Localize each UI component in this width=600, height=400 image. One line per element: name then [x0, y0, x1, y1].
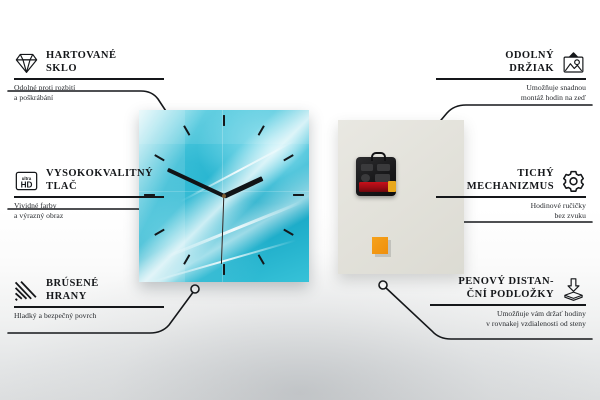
clock-movement — [356, 157, 396, 196]
title-line: HARTOVANÉ — [46, 50, 116, 63]
desc-line: Hladký a bezpečný povrch — [14, 311, 164, 321]
feature-description: Hladký a bezpečný povrch — [14, 311, 164, 321]
feature-hardened-glass: HARTOVANÉ SKLO Odolné proti rozbití a po… — [14, 50, 164, 102]
desc-line: Umožňuje vám držať hodiny — [430, 309, 586, 319]
feature-polished-edges: BRÚSENÉ HRANY Hladký a bezpečný povrch — [14, 278, 164, 321]
feature-description: Odolné proti rozbití a poškrábání — [14, 83, 164, 102]
battery — [359, 182, 395, 192]
divider — [14, 196, 164, 198]
feature-durable-holder: ODOLNÝ DRŽIAK Umožňuje snadnou montáž ho… — [436, 50, 586, 102]
glass-horizontal-reflection — [139, 191, 309, 192]
desc-line: Odolné proti rozbití — [14, 83, 164, 93]
battery-terminal — [388, 181, 396, 192]
title-line: MECHANIZMUS — [467, 181, 554, 194]
desc-line: bez zvuku — [436, 211, 586, 221]
title-line: DRŽIAK — [505, 63, 554, 76]
movement-detail — [377, 164, 390, 171]
desc-line: a výrazný obraz — [14, 211, 164, 221]
feature-head: TICHÝ MECHANIZMUS — [436, 168, 586, 193]
feature-head: ultra HD VYSOKOKVALITNÝ TLAČ — [14, 168, 164, 193]
diamond-icon — [14, 51, 39, 75]
divider — [14, 78, 164, 80]
movement-hanger — [371, 152, 386, 161]
feature-title: ODOLNÝ DRŽIAK — [505, 50, 554, 75]
product-clock-image — [139, 110, 309, 282]
feature-description: Vividné farby a výrazný obraz — [14, 201, 164, 220]
desc-line: a poškrábání — [14, 93, 164, 103]
title-line: HRANY — [46, 291, 99, 304]
desc-line: Vividné farby — [14, 201, 164, 211]
feature-title: HARTOVANÉ SKLO — [46, 50, 116, 75]
feature-head: ODOLNÝ DRŽIAK — [436, 50, 586, 75]
movement-detail — [361, 164, 373, 171]
feature-description: Umožňuje snadnou montáž hodin na zeď — [436, 83, 586, 102]
feature-title: VYSOKOKVALITNÝ TLAČ — [46, 168, 153, 193]
title-line: ODOLNÝ — [505, 50, 554, 63]
feature-head: HARTOVANÉ SKLO — [14, 50, 164, 75]
marker-polished-edges — [191, 285, 199, 293]
foam-distance-pad — [372, 237, 388, 254]
movement-detail — [361, 174, 370, 182]
feature-title: TICHÝ MECHANIZMUS — [467, 168, 554, 193]
feature-high-quality-print: ultra HD VYSOKOKVALITNÝ TLAČ Vividné far… — [14, 168, 164, 220]
title-line: TLAČ — [46, 181, 153, 194]
feature-head: PENOVÝ DISTAN- ČNÍ PODLOŽKY — [430, 276, 586, 301]
divider — [436, 196, 586, 198]
desc-line: montáž hodin na zeď — [436, 93, 586, 103]
feature-description: Umožňuje vám držať hodiny v rovnakej vzd… — [430, 309, 586, 328]
divider — [430, 304, 586, 306]
divider — [14, 306, 164, 308]
desc-line: v rovnakej vzdialenosti od steny — [430, 319, 586, 329]
title-line: BRÚSENÉ — [46, 278, 99, 291]
title-line: SKLO — [46, 63, 116, 76]
desc-line: Hodinové ručičky — [436, 201, 586, 211]
ultra-hd-icon: ultra HD — [14, 169, 39, 193]
diagonal-stripes-icon — [14, 279, 39, 303]
title-line: TICHÝ — [467, 168, 554, 181]
hd-label: HD — [21, 180, 33, 189]
feature-foam-distance-pads: PENOVÝ DISTAN- ČNÍ PODLOŽKY Umožňuje vám… — [430, 276, 586, 328]
desc-line: Umožňuje snadnou — [436, 83, 586, 93]
title-line: PENOVÝ DISTAN- — [458, 276, 554, 289]
title-line: VYSOKOKVALITNÝ — [46, 168, 153, 181]
clock-tick — [293, 194, 304, 196]
clock-tick — [223, 115, 225, 126]
picture-hanger-icon — [561, 51, 586, 75]
feature-head: BRÚSENÉ HRANY — [14, 278, 164, 303]
feature-description: Hodinové ručičky bez zvuku — [436, 201, 586, 220]
gear-icon — [561, 169, 586, 193]
feature-title: PENOVÝ DISTAN- ČNÍ PODLOŽKY — [458, 276, 554, 301]
title-line: ČNÍ PODLOŽKY — [458, 289, 554, 302]
down-arrow-pad-icon — [561, 277, 586, 301]
divider — [436, 78, 586, 80]
clock-tick — [223, 264, 225, 275]
feature-silent-mechanism: TICHÝ MECHANIZMUS Hodinové ručičky bez z… — [436, 168, 586, 220]
marker-foam-pads — [379, 281, 387, 289]
clock-center-pin — [222, 194, 226, 198]
feature-title: BRÚSENÉ HRANY — [46, 278, 99, 303]
product-infographic: HARTOVANÉ SKLO Odolné proti rozbití a po… — [0, 0, 600, 400]
